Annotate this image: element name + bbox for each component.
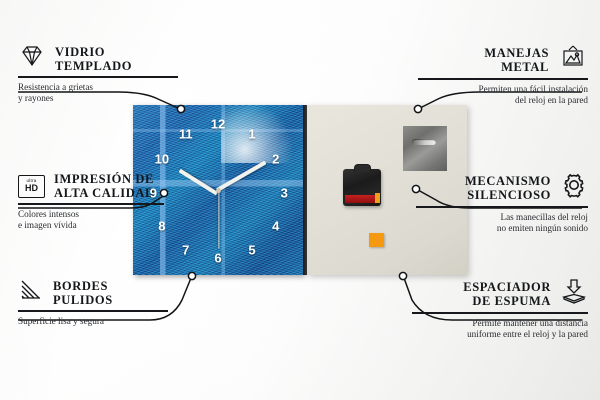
feature-title-line2: TEMPLADO bbox=[55, 59, 132, 73]
foam-spacer-square bbox=[369, 233, 384, 247]
feature-desc-line2: no emiten ningún sonido bbox=[416, 223, 588, 234]
feature-desc-line1: Permite mantener una distancia bbox=[412, 318, 588, 329]
feature-vidrio-templado: VIDRIO TEMPLADO Resistencia a grietas y … bbox=[18, 44, 178, 104]
clock-numeral-3: 3 bbox=[281, 186, 288, 201]
clock-numeral-5: 5 bbox=[248, 242, 255, 257]
clock-numeral-9: 9 bbox=[150, 186, 157, 201]
feature-title-line2: DE ESPUMA bbox=[463, 294, 551, 308]
clock-hour-hand bbox=[179, 169, 218, 196]
hanger-slot bbox=[412, 139, 436, 145]
polished-edge-icon bbox=[18, 278, 44, 307]
feature-title-line1: VIDRIO bbox=[55, 45, 132, 59]
clock-numeral-12: 12 bbox=[211, 116, 225, 131]
foam-spacer-icon bbox=[560, 278, 588, 309]
clock-numeral-1: 1 bbox=[248, 126, 255, 141]
feature-manejas-metal: MANEJAS METAL Permiten una fácil instala… bbox=[418, 44, 588, 106]
mechanism-loop bbox=[354, 164, 371, 172]
feature-impresion-alta-calidad: ultra HD IMPRESIÓN DE ALTA CALIDAD Color… bbox=[18, 172, 164, 231]
gear-icon bbox=[560, 172, 588, 203]
feature-desc-line1: Superficie lisa y segura bbox=[18, 316, 168, 327]
clock-second-hand bbox=[218, 191, 219, 249]
clock-numeral-11: 11 bbox=[179, 126, 193, 141]
picture-hanger-icon bbox=[558, 44, 588, 75]
feature-desc-line1: Las manecillas del reloj bbox=[416, 212, 588, 223]
feature-bordes-pulidos: BORDES PULIDOS Superficie lisa y segura bbox=[18, 278, 168, 327]
feature-desc-line2: del reloj en la pared bbox=[418, 95, 588, 106]
feature-title-line1: MECANISMO bbox=[465, 174, 551, 188]
ultra-hd-icon-main-text: HD bbox=[25, 184, 38, 193]
metal-hanger-plate bbox=[403, 126, 447, 171]
feature-desc-line2: uniforme entre el reloj y la pared bbox=[412, 329, 588, 340]
feature-divider bbox=[18, 203, 164, 205]
feature-divider bbox=[18, 310, 168, 312]
clock-center-pin bbox=[216, 188, 221, 193]
feature-title-line1: MANEJAS bbox=[484, 46, 549, 60]
diamond-icon bbox=[18, 44, 46, 73]
infographic-canvas: 12 1 2 3 4 5 6 7 8 9 10 11 bbox=[0, 0, 600, 400]
feature-desc-line2: e imagen vívida bbox=[18, 220, 164, 231]
feature-title-line1: ESPACIADOR bbox=[463, 280, 551, 294]
feature-divider bbox=[416, 206, 588, 208]
feature-divider bbox=[418, 78, 588, 80]
ultra-hd-icon: ultra HD bbox=[18, 175, 45, 198]
feature-divider bbox=[412, 312, 588, 314]
feature-desc-line1: Resistencia a grietas bbox=[18, 82, 178, 93]
mechanism-label bbox=[345, 195, 375, 203]
clock-numeral-8: 8 bbox=[158, 218, 165, 233]
clock-numeral-10: 10 bbox=[155, 152, 169, 167]
clock-minute-hand bbox=[216, 161, 266, 192]
feature-desc-line1: Permiten una fácil instalación bbox=[418, 84, 588, 95]
feature-title-line1: IMPRESIÓN DE bbox=[54, 172, 155, 186]
feature-desc-line2: y rayones bbox=[18, 93, 178, 104]
clock-numeral-2: 2 bbox=[272, 152, 279, 167]
clock-numeral-6: 6 bbox=[214, 251, 221, 266]
feature-title-line1: BORDES bbox=[53, 279, 113, 293]
clock-numeral-7: 7 bbox=[182, 242, 189, 257]
clock-numeral-4: 4 bbox=[272, 218, 279, 233]
feature-title-line2: SILENCIOSO bbox=[465, 188, 551, 202]
feature-espaciador-espuma: ESPACIADOR DE ESPUMA Permite mantener un… bbox=[412, 278, 588, 340]
feature-divider bbox=[18, 76, 178, 78]
feature-desc-line1: Colores intensos bbox=[18, 209, 164, 220]
feature-title-line2: METAL bbox=[484, 60, 549, 74]
feature-mecanismo-silencioso: MECANISMO SILENCIOSO Las manecillas del … bbox=[416, 172, 588, 234]
clock-mechanism-box bbox=[343, 169, 381, 206]
feature-title-line2: ALTA CALIDAD bbox=[54, 186, 155, 200]
feature-title-line2: PULIDOS bbox=[53, 293, 113, 307]
